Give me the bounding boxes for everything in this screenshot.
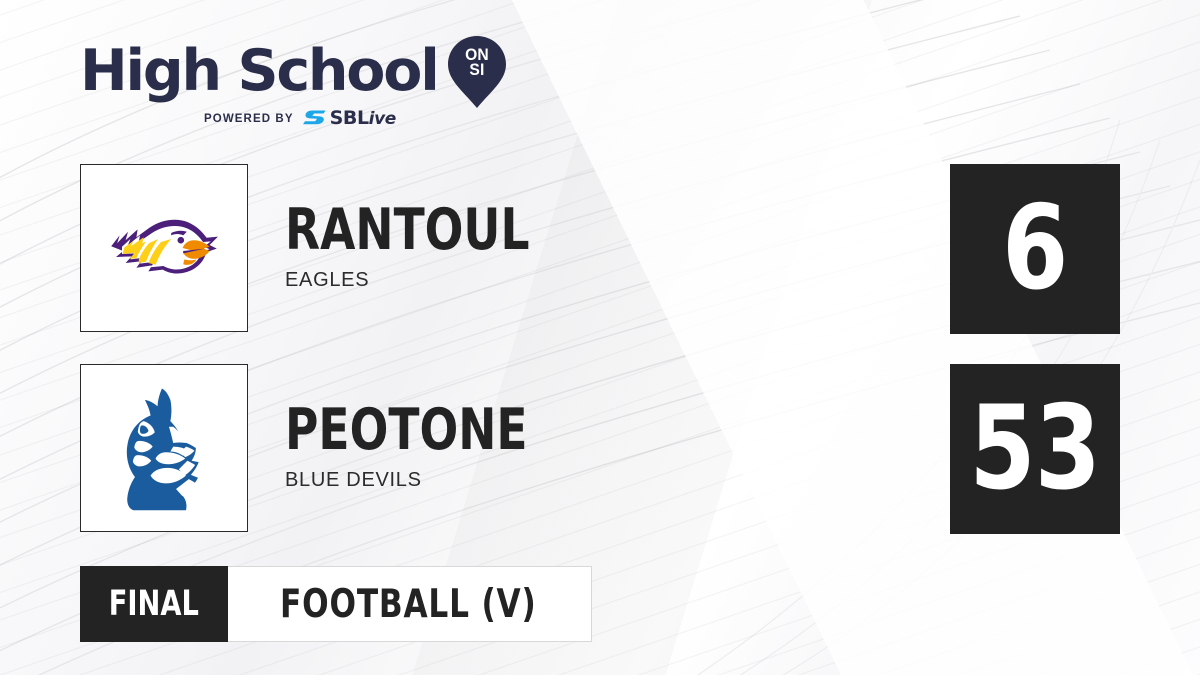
team-score-box: 6 — [950, 164, 1120, 334]
sblive-italic: ive — [369, 109, 396, 129]
team-info: RANTOUL EAGLES — [285, 204, 591, 292]
on-si-pin-label: ON SI — [450, 47, 503, 77]
brand-header: High School ON SI POWERED BY SBLive — [80, 38, 510, 128]
team-row[interactable]: RANTOUL EAGLES — [80, 164, 591, 332]
sblive-wordmark: SBLive — [330, 109, 396, 128]
team-logo-card — [80, 164, 248, 332]
team-nickname: EAGLES — [285, 269, 591, 292]
team-row[interactable]: PEOTONE BLUE DEVILS — [80, 364, 588, 532]
eagle-head-logo — [104, 209, 224, 287]
game-status-bar: FINAL FOOTBALL (V) — [80, 566, 592, 642]
team-name: RANTOUL — [285, 204, 530, 256]
sport-label-box: FOOTBALL (V) — [228, 566, 592, 642]
team-score-box: 53 — [950, 364, 1120, 534]
pin-line-si: SI — [450, 62, 503, 77]
powered-by-row: POWERED BY SBLive — [204, 109, 510, 128]
status-badge: FINAL — [80, 566, 228, 642]
status-badge-label: FINAL — [109, 584, 199, 624]
scoreboard-graphic: High School ON SI POWERED BY SBLive — [0, 0, 1200, 675]
brand-wordmark: High School — [80, 43, 438, 100]
powered-by-label: POWERED BY — [204, 113, 294, 125]
team-logo-card — [80, 364, 248, 532]
brand-logo-row: High School ON SI — [80, 38, 510, 104]
sport-label: FOOTBALL (V) — [280, 582, 536, 627]
team-score: 6 — [1002, 191, 1067, 307]
sblive-bold: SBL — [330, 107, 369, 129]
sblive-logo: SBLive — [303, 109, 396, 128]
blue-devil-head-logo — [118, 384, 210, 512]
sblive-swoosh-icon — [303, 109, 327, 128]
team-score: 53 — [970, 391, 1101, 507]
on-si-pin-icon: ON SI — [448, 36, 506, 108]
team-name: PEOTONE — [285, 404, 528, 456]
team-nickname: BLUE DEVILS — [285, 469, 588, 492]
team-info: PEOTONE BLUE DEVILS — [285, 404, 588, 492]
